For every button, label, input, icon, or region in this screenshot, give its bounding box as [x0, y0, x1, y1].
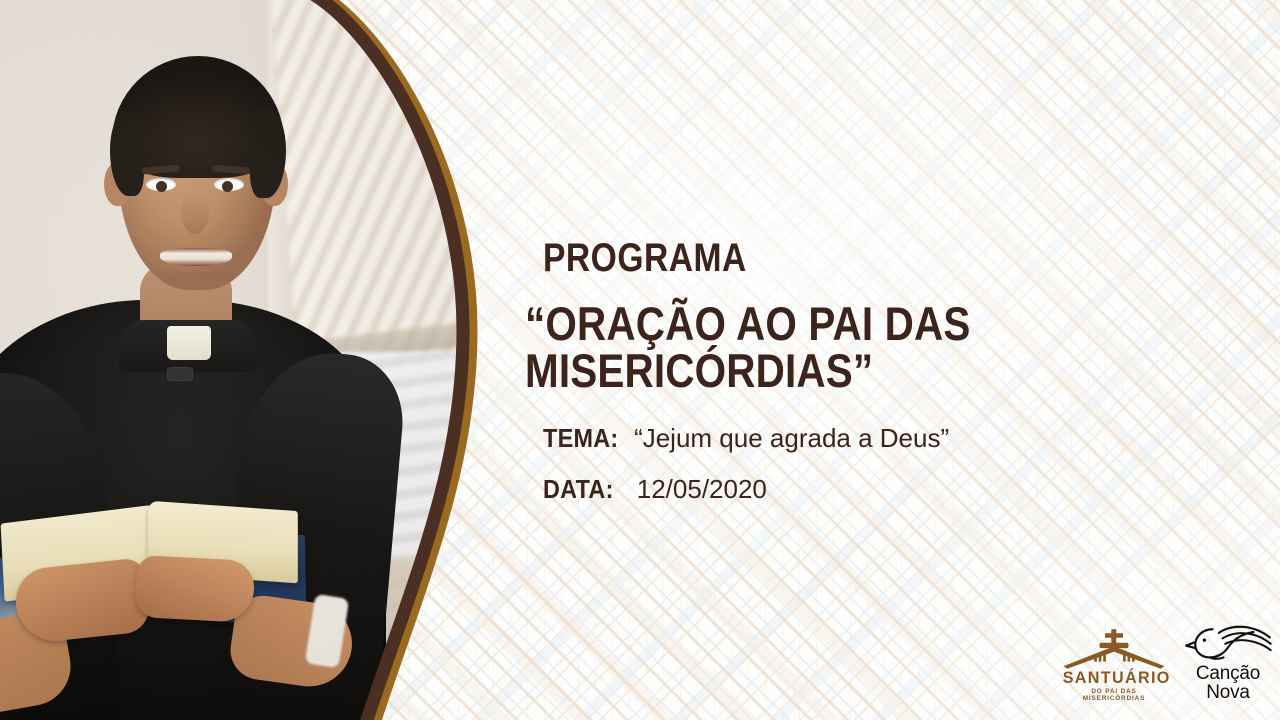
church-roof-cross-icon — [1060, 629, 1168, 669]
divider-gold-stroke — [318, 0, 470, 720]
program-text-block: PROGRAMA “ORAÇÃO AO PAI DAS MISERICÓRDIA… — [525, 238, 1245, 503]
dove-icon — [1182, 622, 1274, 662]
sanctuary-logo-subtitle: DO PAI DAS MISERICÓRDIAS — [1060, 689, 1168, 702]
cancao-nova-name: Canção Nova — [1182, 664, 1274, 702]
sanctuary-logo: SANTUÁRIO DO PAI DAS MISERICÓRDIAS — [1060, 629, 1168, 702]
cancao-nova-logo: Canção Nova — [1182, 622, 1274, 702]
date-row: DATA: 12/05/2020 — [543, 475, 1245, 504]
sanctuary-logo-name: SANTUÁRIO — [1063, 669, 1166, 686]
program-title: “ORAÇÃO AO PAI DAS MISERICÓRDIAS” — [525, 300, 1144, 394]
date-value: 12/05/2020 — [637, 474, 767, 504]
date-label: DATA: — [543, 475, 614, 504]
program-kicker: PROGRAMA — [543, 238, 1133, 278]
slide-canvas: PROGRAMA “ORAÇÃO AO PAI DAS MISERICÓRDIA… — [0, 0, 1280, 720]
theme-label: TEMA: — [543, 424, 618, 453]
theme-value: “Jejum que agrada a Deus” — [634, 423, 949, 453]
divider-brown-stroke — [313, 0, 463, 720]
curved-divider — [0, 0, 520, 720]
theme-row: TEMA: “Jejum que agrada a Deus” — [543, 424, 1245, 453]
logo-group: SANTUÁRIO DO PAI DAS MISERICÓRDIAS Cançã… — [1060, 618, 1270, 702]
